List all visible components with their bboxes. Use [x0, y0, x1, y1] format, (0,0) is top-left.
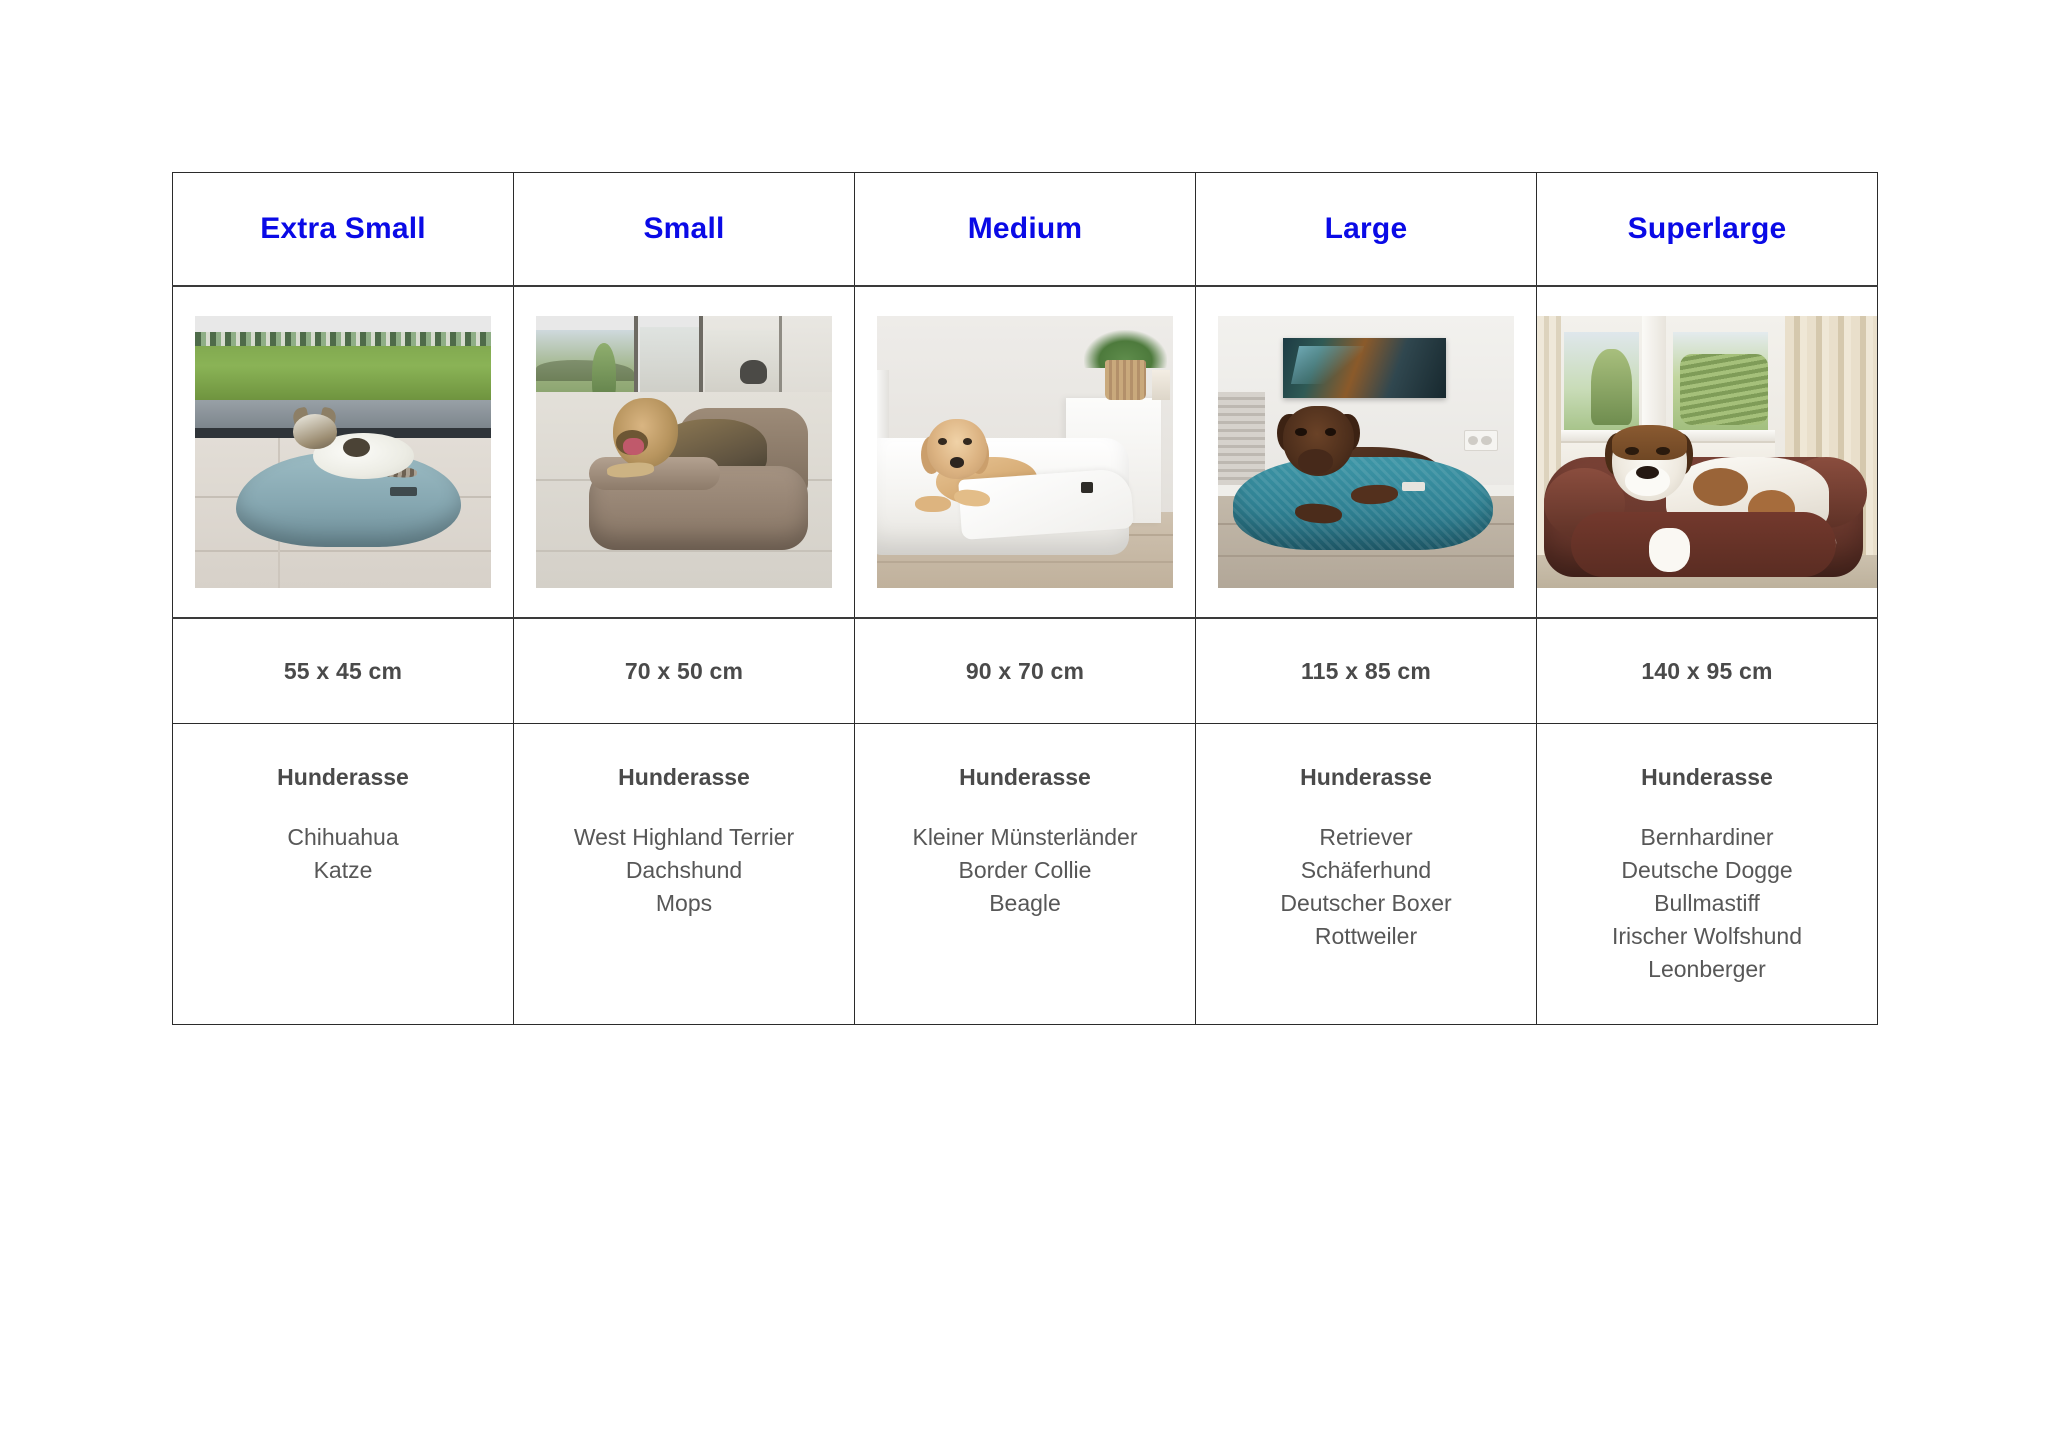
header-cell-medium: Medium [855, 173, 1196, 287]
breeds-cell-medium: Hunderasse Kleiner MünsterländerBorder C… [855, 724, 1196, 1025]
breed-item: Mops [514, 887, 854, 920]
dimension-cell-small: 70 x 50 cm [514, 618, 855, 724]
table-header-row: Extra Small Small Medium Large Superlarg… [173, 173, 1878, 287]
breed-item: Leonberger [1537, 953, 1877, 986]
breed-item: Deutsche Dogge [1537, 854, 1877, 887]
breeds-box-superlarge: Hunderasse BernhardinerDeutsche DoggeBul… [1537, 724, 1877, 986]
breeds-title-medium: Hunderasse [855, 764, 1195, 791]
table-dimensions-row: 55 x 45 cm 70 x 50 cm 90 x 70 cm 115 x 8… [173, 618, 1878, 724]
breed-item: Chihuahua [173, 821, 513, 854]
dimension-small: 70 x 50 cm [625, 658, 743, 684]
size-label-small: Small [514, 214, 854, 244]
breeds-title-small: Hunderasse [514, 764, 854, 791]
breed-item: West Highland Terrier [514, 821, 854, 854]
photo-cell-superlarge [1537, 286, 1878, 618]
dimension-cell-medium: 90 x 70 cm [855, 618, 1196, 724]
breed-item: Irischer Wolfshund [1537, 920, 1877, 953]
header-cell-superlarge: Superlarge [1537, 173, 1878, 287]
dimension-cell-large: 115 x 85 cm [1196, 618, 1537, 724]
breeds-box-small: Hunderasse West Highland TerrierDachshun… [514, 724, 854, 920]
breeds-cell-extra-small: Hunderasse ChihuahuaKatze [173, 724, 514, 1025]
size-label-extra-small: Extra Small [173, 214, 513, 244]
photo-terrier-on-brown-leather-sofa-bed [536, 316, 832, 588]
breeds-title-superlarge: Hunderasse [1537, 764, 1877, 791]
photo-cell-medium [855, 286, 1196, 618]
dog-bed-size-table: Extra Small Small Medium Large Superlarg… [172, 172, 1878, 1025]
breeds-title-extra-small: Hunderasse [173, 764, 513, 791]
dimension-cell-extra-small: 55 x 45 cm [173, 618, 514, 724]
photo-wrap-large [1196, 287, 1536, 617]
photo-saint-bernard-on-brown-sofa-bed [1537, 316, 1877, 588]
breed-item: Dachshund [514, 854, 854, 887]
photo-cat-on-blue-dog-bed [195, 316, 491, 588]
breed-item: Retriever [1196, 821, 1536, 854]
dimension-large: 115 x 85 cm [1301, 658, 1431, 684]
size-label-superlarge: Superlarge [1537, 214, 1877, 244]
header-cell-extra-small: Extra Small [173, 173, 514, 287]
breed-item: Deutscher Boxer [1196, 887, 1536, 920]
breeds-box-medium: Hunderasse Kleiner MünsterländerBorder C… [855, 724, 1195, 920]
breeds-list-small: West Highland TerrierDachshundMops [514, 821, 854, 920]
photo-wrap-medium [855, 287, 1195, 617]
breeds-list-large: RetrieverSchäferhundDeutscher BoxerRottw… [1196, 821, 1536, 953]
breeds-cell-large: Hunderasse RetrieverSchäferhundDeutscher… [1196, 724, 1537, 1025]
photo-cell-small [514, 286, 855, 618]
photo-wrap-small [514, 287, 854, 617]
breed-item: Border Collie [855, 854, 1195, 887]
breed-item: Kleiner Münsterländer [855, 821, 1195, 854]
breed-item: Bullmastiff [1537, 887, 1877, 920]
breeds-title-large: Hunderasse [1196, 764, 1536, 791]
photo-cockapoo-on-white-dog-bed [877, 316, 1173, 588]
size-label-medium: Medium [855, 214, 1195, 244]
size-label-large: Large [1196, 214, 1536, 244]
dimension-superlarge: 140 x 95 cm [1641, 658, 1772, 684]
dimension-medium: 90 x 70 cm [966, 658, 1084, 684]
photo-cell-extra-small [173, 286, 514, 618]
photo-cell-large [1196, 286, 1537, 618]
header-cell-small: Small [514, 173, 855, 287]
dimension-cell-superlarge: 140 x 95 cm [1537, 618, 1878, 724]
header-cell-large: Large [1196, 173, 1537, 287]
table-photo-row [173, 286, 1878, 618]
breeds-list-extra-small: ChihuahuaKatze [173, 821, 513, 887]
photo-wrap-extra-small [173, 287, 513, 617]
breed-item: Katze [173, 854, 513, 887]
table-breeds-row: Hunderasse ChihuahuaKatze Hunderasse Wes… [173, 724, 1878, 1025]
breeds-box-large: Hunderasse RetrieverSchäferhundDeutscher… [1196, 724, 1536, 953]
breeds-cell-superlarge: Hunderasse BernhardinerDeutsche DoggeBul… [1537, 724, 1878, 1025]
breed-item: Beagle [855, 887, 1195, 920]
breeds-box-extra-small: Hunderasse ChihuahuaKatze [173, 724, 513, 887]
breed-item: Rottweiler [1196, 920, 1536, 953]
photo-wrap-superlarge [1537, 287, 1877, 617]
breeds-list-superlarge: BernhardinerDeutsche DoggeBullmastiffIri… [1537, 821, 1877, 986]
photo-chocolate-labrador-on-teal-dog-bed [1218, 316, 1514, 588]
document-page: Extra Small Small Medium Large Superlarg… [0, 0, 2048, 1448]
breed-item: Bernhardiner [1537, 821, 1877, 854]
breeds-cell-small: Hunderasse West Highland TerrierDachshun… [514, 724, 855, 1025]
breed-item: Schäferhund [1196, 854, 1536, 887]
dimension-extra-small: 55 x 45 cm [284, 658, 402, 684]
breeds-list-medium: Kleiner MünsterländerBorder CollieBeagle [855, 821, 1195, 920]
